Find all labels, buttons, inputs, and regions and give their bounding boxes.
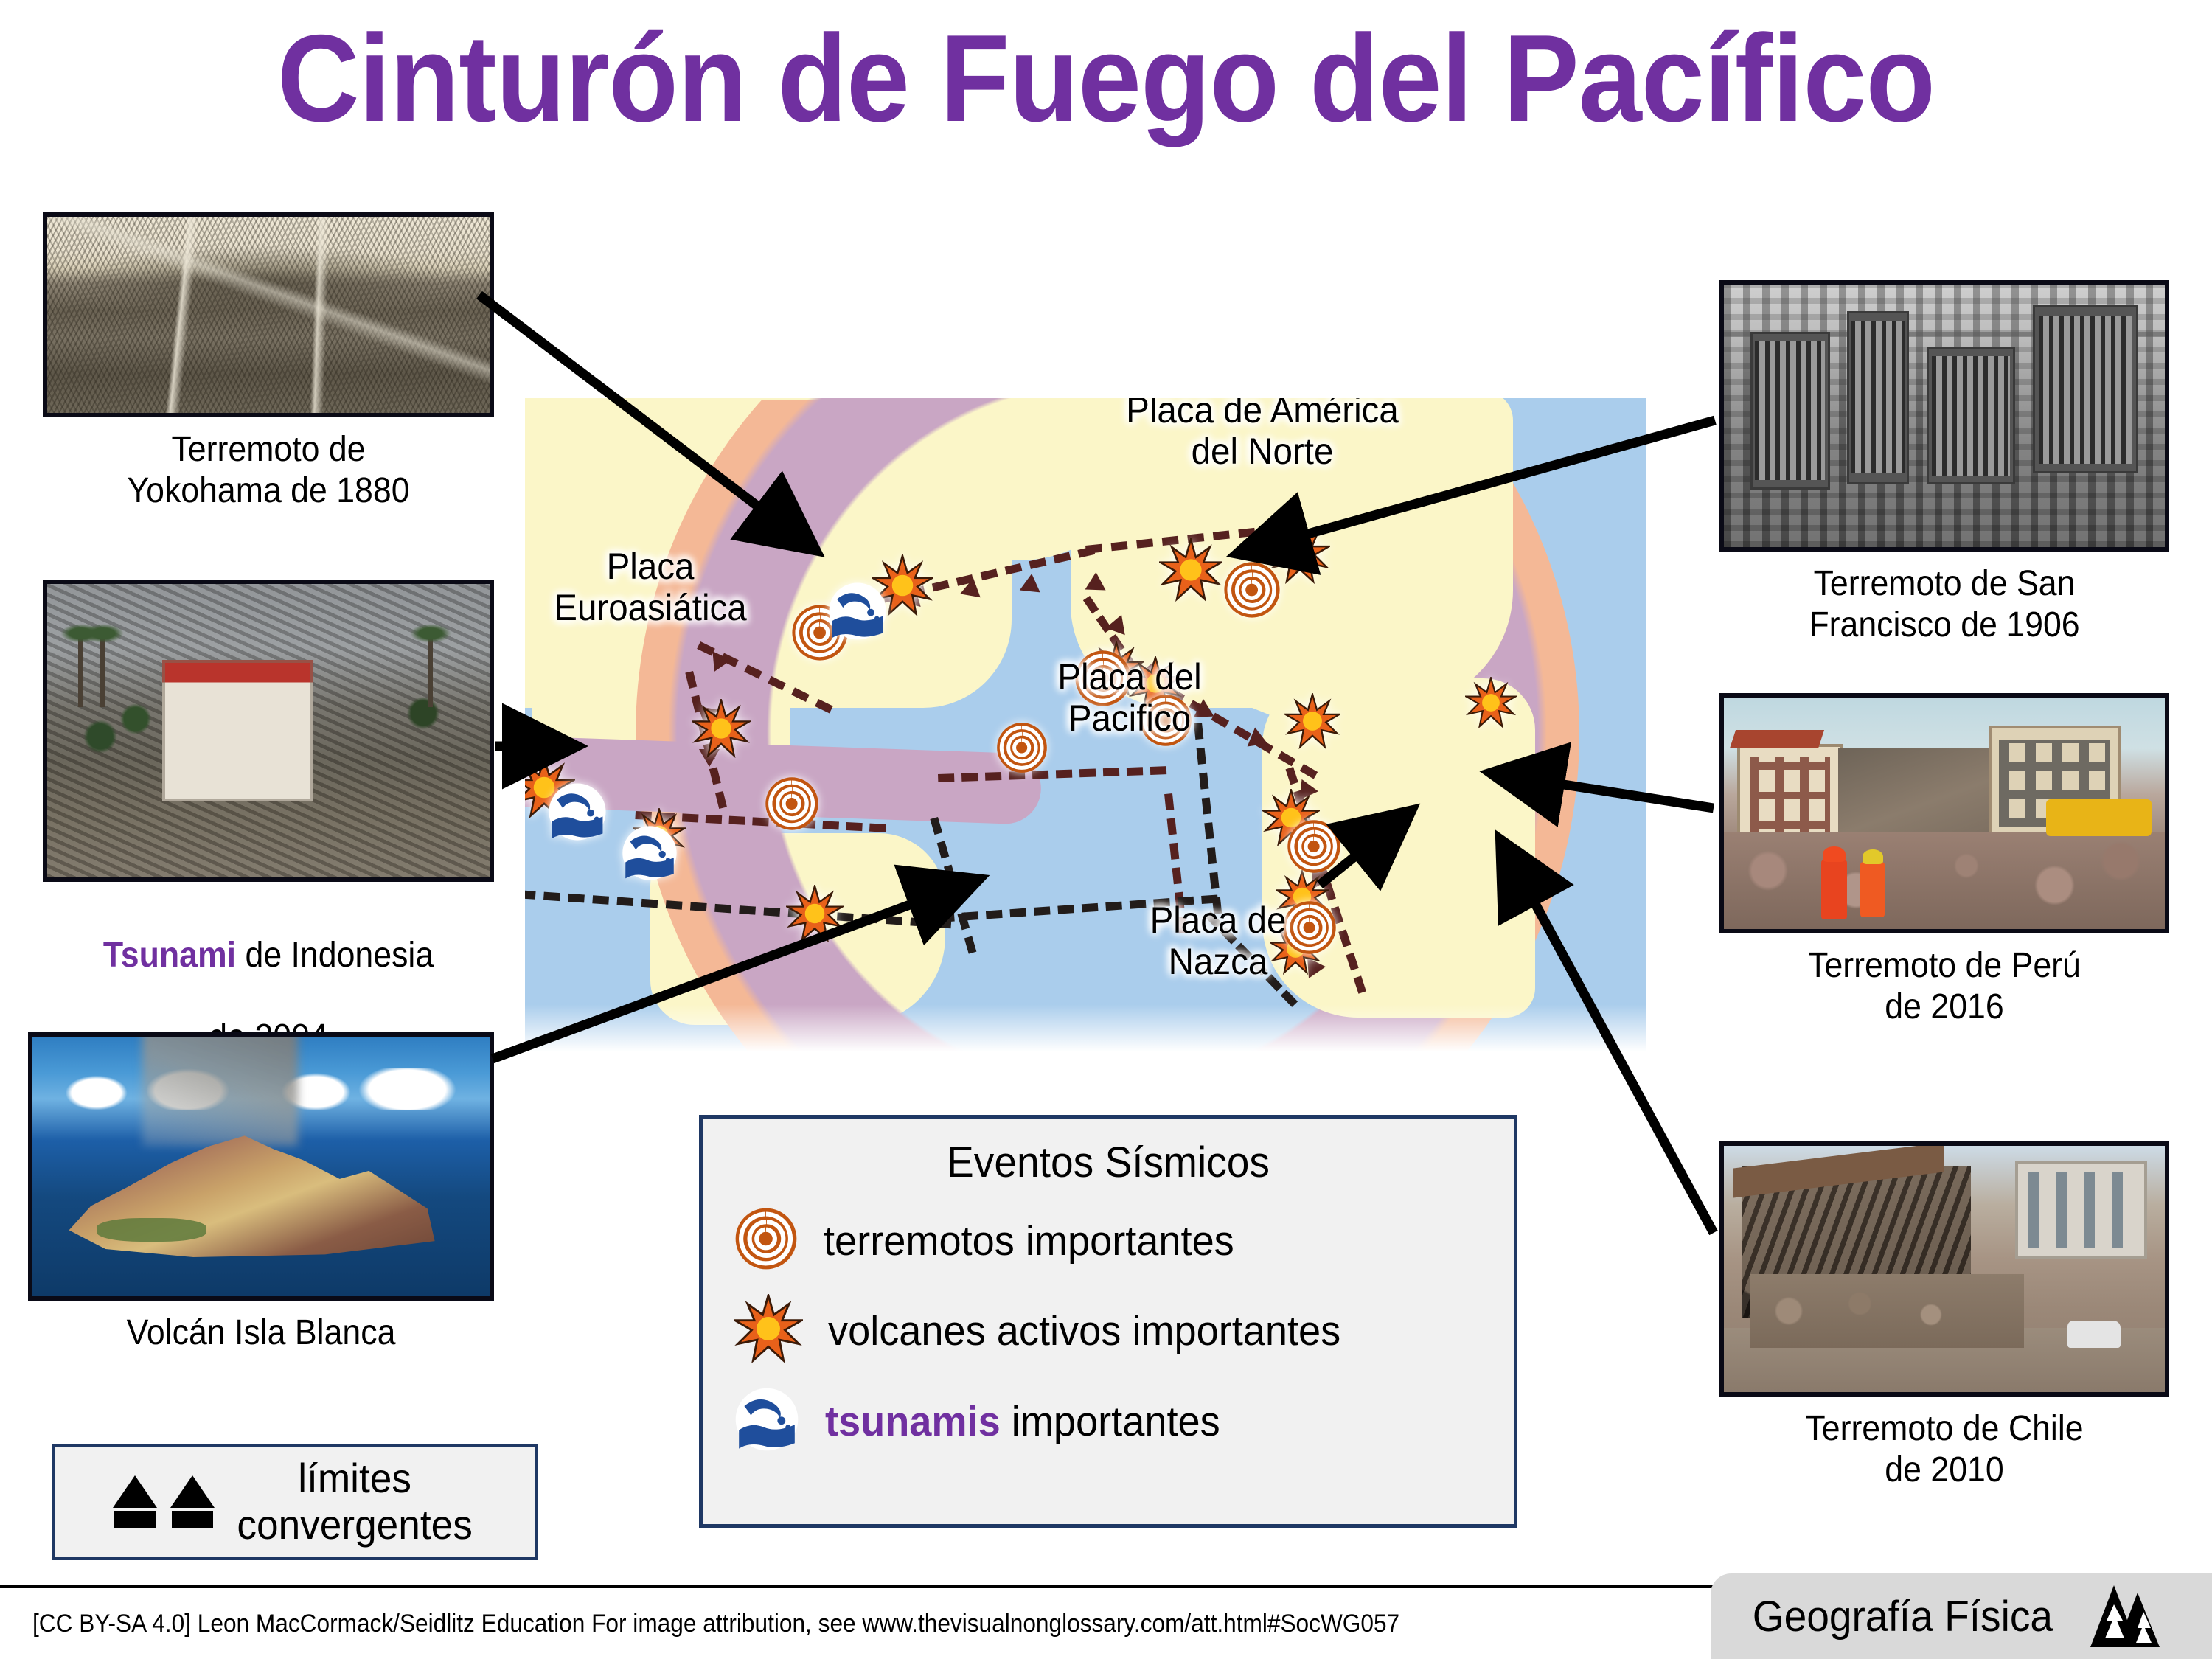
caption-yokohama: Terremoto de Yokohama de 1880 — [58, 429, 478, 511]
legend-title: Eventos Sísmicos — [723, 1138, 1494, 1187]
photo-card-chile: Terremoto de Chile de 2010 — [1719, 1141, 2169, 1490]
caption-peru: Terremoto de Perú de 2016 — [1735, 945, 2153, 1027]
legend-label-tsunamis-rest: importantes — [1001, 1398, 1220, 1445]
legend-seismic-events: Eventos Sísmicos terremotos importantes … — [699, 1115, 1517, 1528]
volcano-starburst-icon — [1284, 693, 1340, 749]
photo-white-island — [28, 1032, 494, 1301]
volcano-starburst-icon — [1159, 538, 1222, 602]
convergent-boundary-label: límites convergentes — [237, 1455, 472, 1548]
map-label-placa-de-nazca: Placa de Nazca — [1071, 900, 1366, 982]
convergence-triangle — [1020, 573, 1042, 593]
tsunami-wave-icon — [547, 782, 608, 842]
volcano-starburst-icon — [734, 1294, 803, 1367]
legend-item-tsunamis: tsunamis importantes — [734, 1386, 1514, 1456]
earthquake-spiral-icon — [764, 776, 820, 832]
legend-item-volcanoes: volcanes activos importantes — [734, 1294, 1514, 1367]
photo-peru — [1719, 693, 2169, 933]
convergent-boundary-icon — [111, 1475, 216, 1528]
mountain-icon — [2080, 1582, 2168, 1650]
legend-label-volcanoes: volcanes activos importantes — [828, 1307, 1340, 1355]
footer-attribution: [CC BY-SA 4.0] Leon MacCormack/Seidlitz … — [32, 1610, 1399, 1638]
legend-convergent-boundaries: límites convergentes — [52, 1444, 538, 1560]
photo-yokohama — [43, 212, 494, 417]
earthquake-spiral-icon — [1286, 818, 1342, 874]
caption-white-island: Volcán Isla Blanca — [44, 1312, 478, 1354]
page-title: Cinturón de Fuego del Pacífico — [88, 13, 2124, 143]
volcano-starburst-icon — [786, 885, 844, 942]
volcano-starburst-icon — [692, 699, 751, 758]
legend-item-earthquakes: terremotos importantes — [734, 1206, 1514, 1275]
tsunami-wave-icon — [827, 581, 888, 641]
caption-indonesia-rest: de Indonesia — [236, 936, 434, 975]
tsunami-wave-icon — [621, 824, 678, 882]
volcano-starburst-icon — [1465, 677, 1517, 728]
tsunami-wave-icon — [734, 1386, 800, 1456]
photo-chile — [1719, 1141, 2169, 1397]
map-label-placa-del-pacifico: Placa del Pacifico — [983, 656, 1277, 739]
photo-card-white-island: Volcán Isla Blanca — [28, 1032, 494, 1354]
photo-card-peru: Terremoto de Perú de 2016 — [1719, 693, 2169, 1027]
map-label-placa-euroasiatica: Placa Euroasiática — [525, 546, 798, 628]
caption-san-francisco: Terremoto de San Francisco de 1906 — [1735, 563, 2153, 645]
map-label-placa-america-del-norte: Placa de América del Norte — [1052, 398, 1472, 472]
earthquake-spiral-icon — [734, 1206, 799, 1275]
photo-card-san-francisco: Terremoto de San Francisco de 1906 — [1719, 280, 2169, 645]
subject-badge-label: Geografía Física — [1753, 1592, 2053, 1641]
legend-label-earthquakes: terremotos importantes — [824, 1217, 1234, 1265]
photo-card-indonesia: Tsunami de Indonesia de 2004 — [43, 580, 494, 1058]
photo-san-francisco — [1719, 280, 2169, 552]
caption-indonesia-highlight: Tsunami — [103, 936, 236, 975]
convergence-triangle — [1085, 572, 1107, 591]
convergence-triangle — [960, 577, 984, 597]
photo-card-yokohama: Terremoto de Yokohama de 1880 — [43, 212, 494, 511]
legend-label-tsunamis: tsunamis importantes — [825, 1397, 1220, 1446]
photo-indonesia — [43, 580, 494, 882]
subject-badge: Geografía Física — [1711, 1573, 2212, 1659]
caption-chile: Terremoto de Chile de 2010 — [1735, 1408, 2153, 1490]
legend-label-tsunamis-highlight: tsunamis — [825, 1398, 1001, 1445]
earthquake-spiral-icon — [1222, 560, 1281, 619]
pacific-ring-of-fire-map: Placa Euroasiática Placa de América del … — [525, 398, 1646, 1056]
